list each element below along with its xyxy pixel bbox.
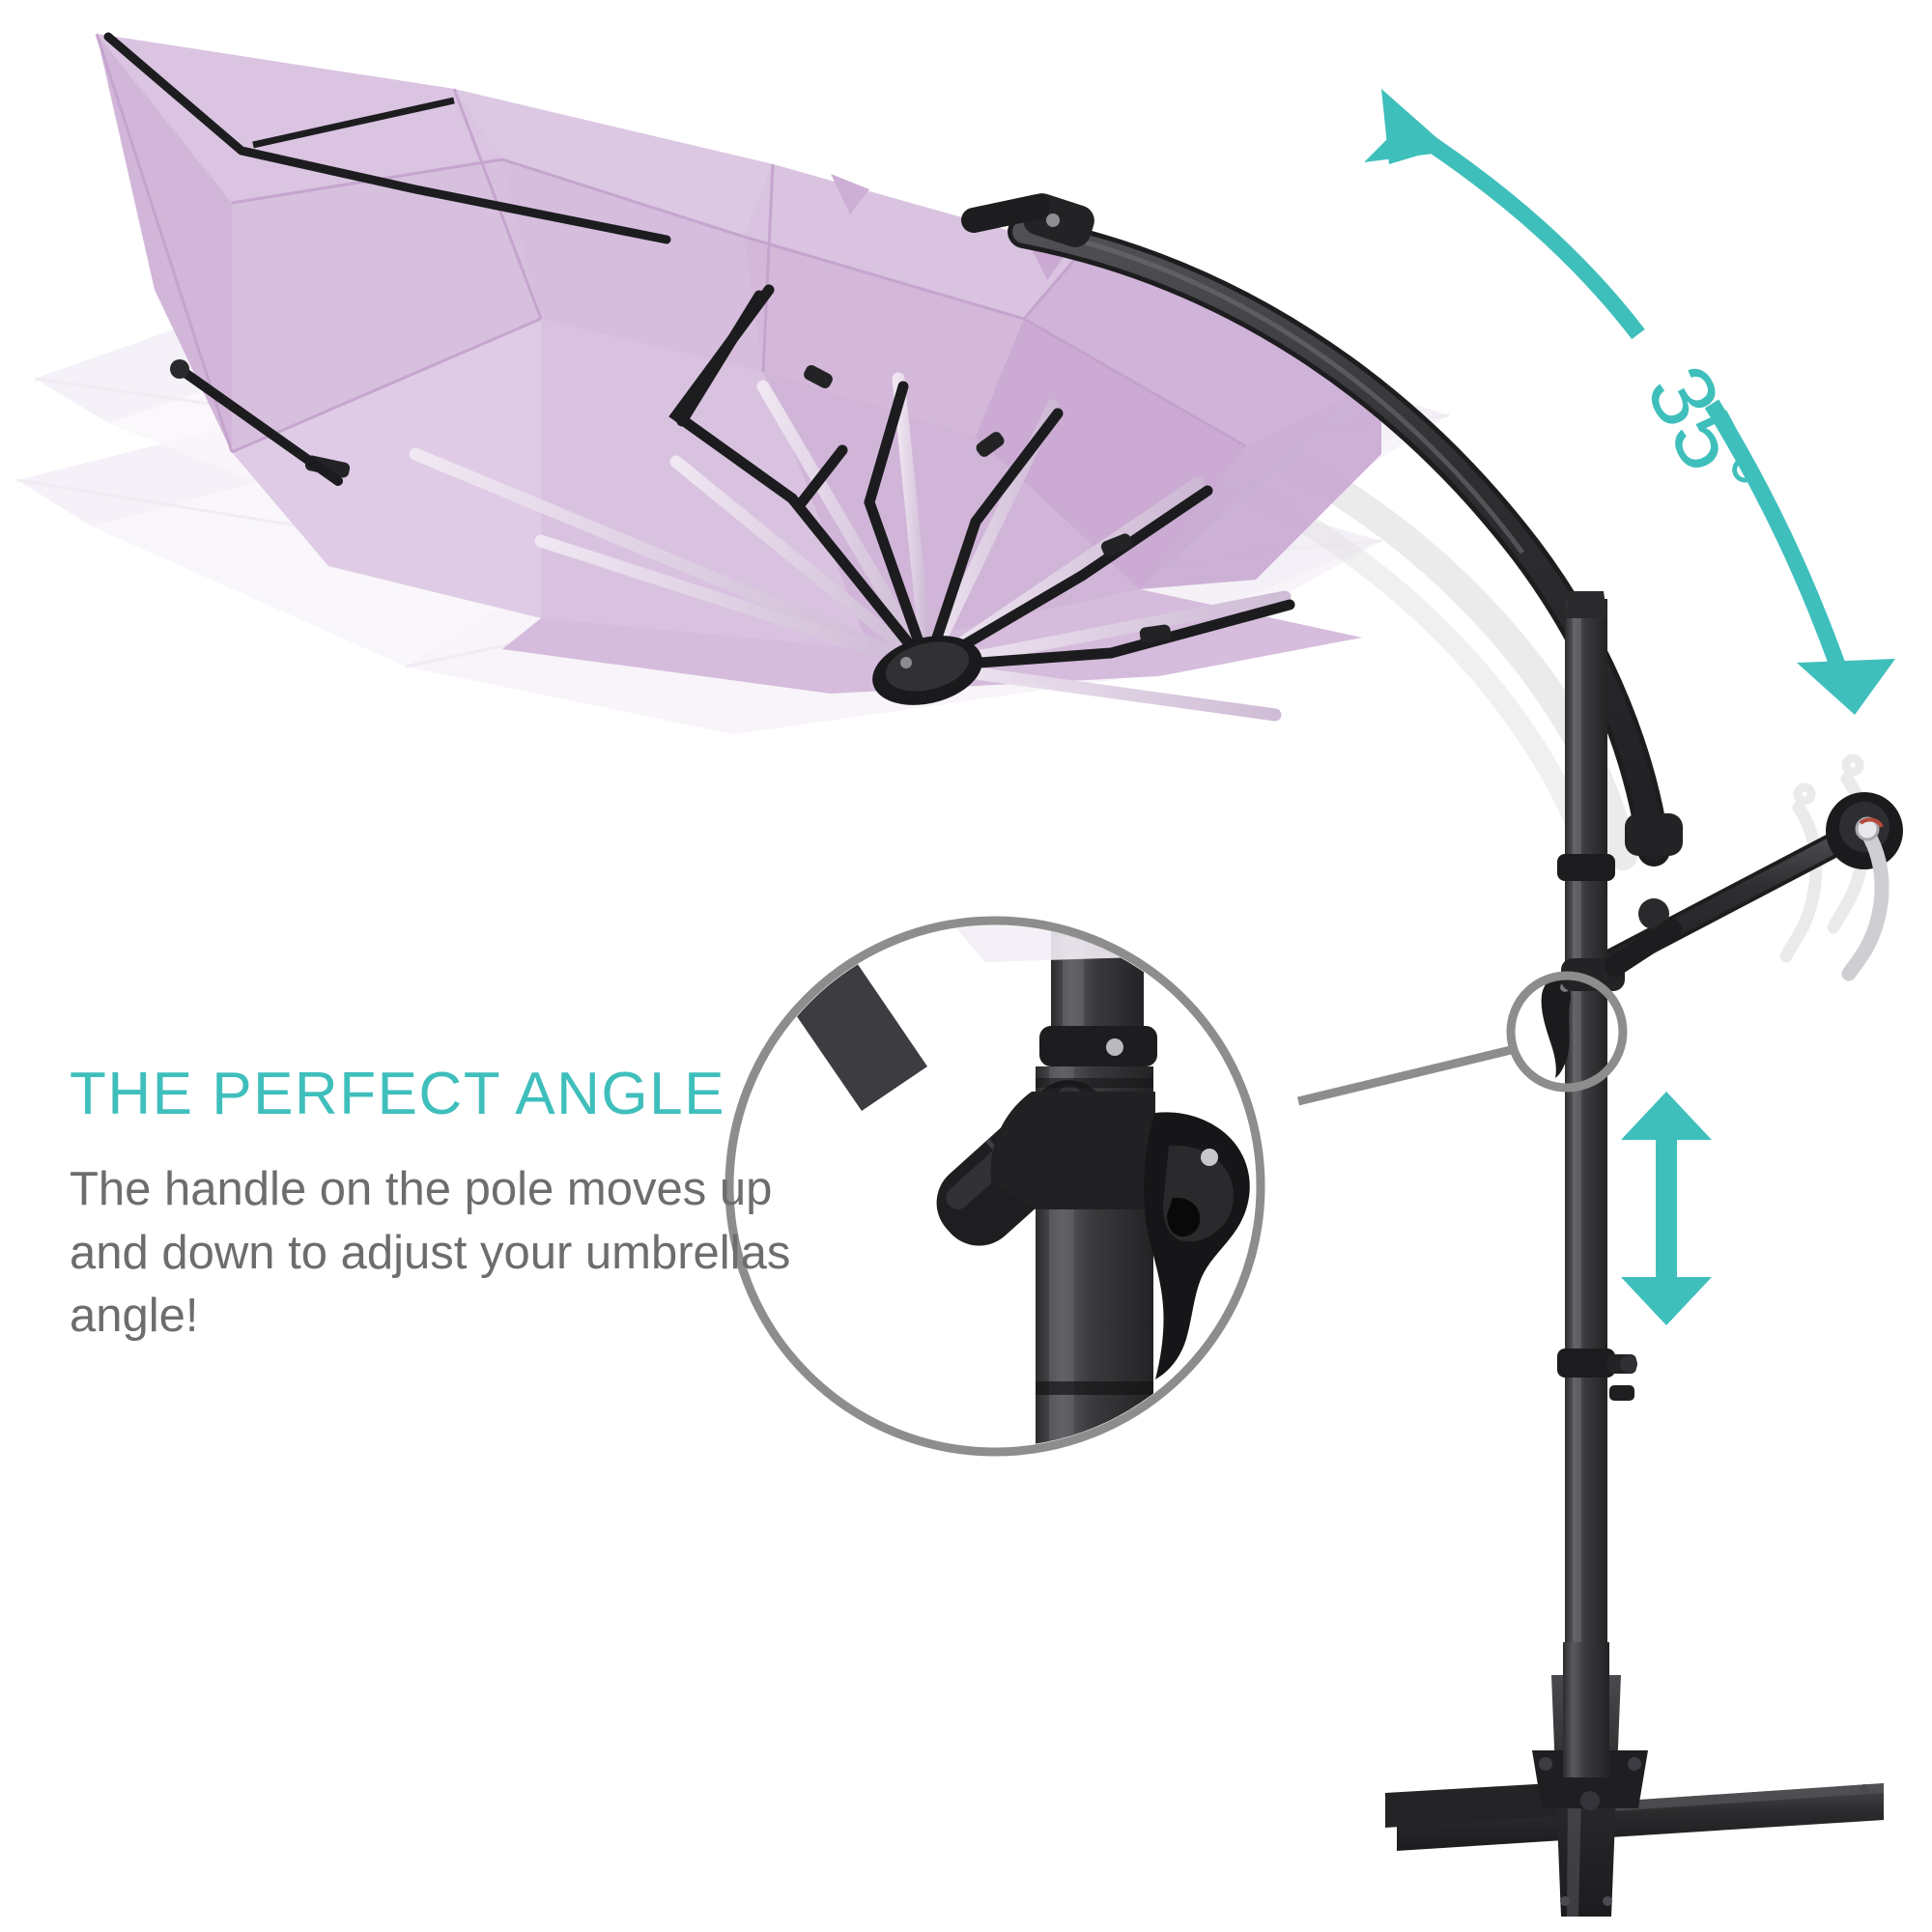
pole-collar-top (1557, 854, 1615, 881)
umbrella-cross-base (1385, 1642, 1884, 1917)
callout-text-block: THE PERFECT ANGLE The handle on the pole… (70, 1063, 920, 1349)
pole-collar-lower (1557, 1349, 1615, 1378)
callout-leader-line (1298, 1049, 1515, 1101)
product-illustration: 35° (0, 0, 1932, 1932)
height-adjust-arrow (1621, 1092, 1712, 1325)
page-title: THE PERFECT ANGLE (70, 1063, 920, 1125)
infographic-canvas: 35° (0, 0, 1932, 1932)
tilt-arrow-head-down (1797, 659, 1895, 715)
callout-body-text: The handle on the pole moves up and down… (70, 1158, 833, 1349)
